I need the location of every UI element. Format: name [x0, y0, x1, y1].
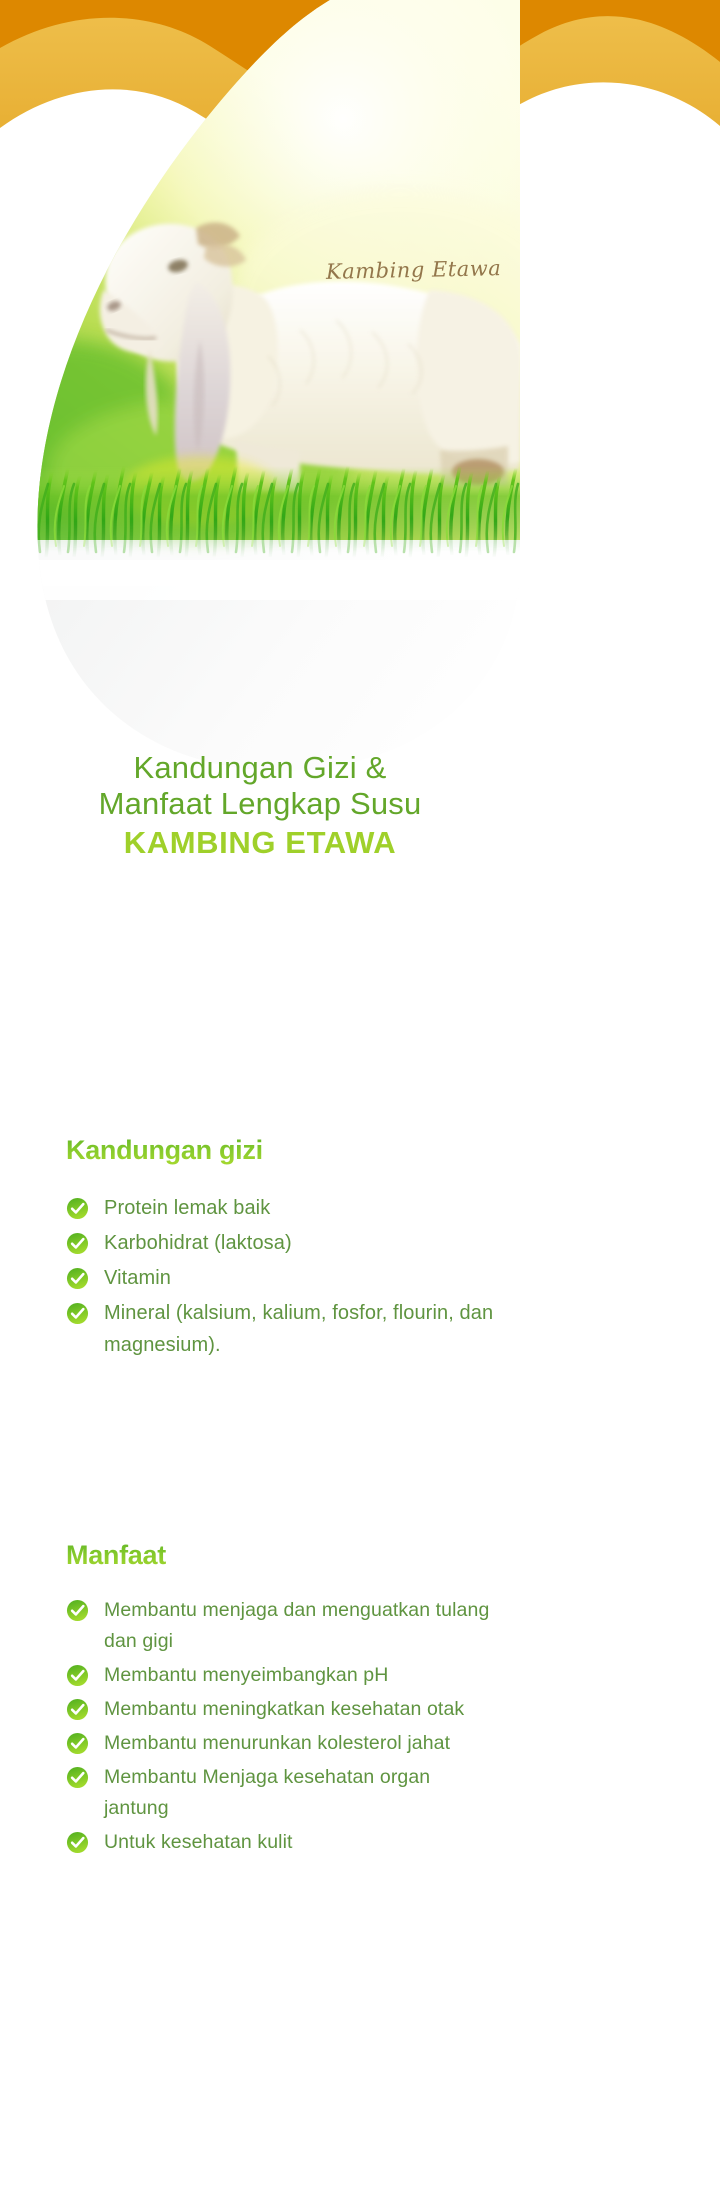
list-item-label: Membantu menurunkan kolesterol jahat: [104, 1728, 450, 1759]
hero-droplet: Kambing Etawa: [0, 0, 520, 790]
list-item: Untuk kesehatan kulit: [66, 1827, 496, 1858]
check-circle-icon: [66, 1232, 89, 1255]
list-item-label: Membantu meningkatkan kesehatan otak: [104, 1694, 464, 1725]
benefits-list: Membantu menjaga dan menguatkan tulang d…: [66, 1595, 496, 1858]
list-item-label: Vitamin: [104, 1262, 171, 1294]
milk-droplet-shape: [0, 0, 520, 790]
check-circle-icon: [66, 1664, 89, 1687]
list-item: Membantu menurunkan kolesterol jahat: [66, 1728, 496, 1759]
check-circle-icon: [66, 1732, 89, 1755]
nutrition-list: Protein lemak baik Karbohidrat (laktosa)…: [66, 1192, 496, 1361]
title-brand: KAMBING ETAWA: [30, 825, 490, 861]
photo-caption: Kambing Etawa: [326, 256, 502, 284]
check-circle-icon: [66, 1599, 89, 1622]
list-item: Karbohidrat (laktosa): [66, 1227, 496, 1259]
page-title: Kandungan Gizi & Manfaat Lengkap Susu KA…: [30, 750, 490, 861]
title-line-2: Manfaat Lengkap Susu: [30, 786, 490, 822]
section-manfaat: Manfaat Membantu menjaga dan menguatkan …: [66, 1540, 496, 1861]
goat-photo: [0, 0, 520, 600]
section-heading-gizi: Kandungan gizi: [66, 1135, 263, 1166]
list-item: Vitamin: [66, 1262, 496, 1294]
list-item: Membantu menyeimbangkan pH: [66, 1660, 496, 1691]
list-item: Membantu Menjaga kesehatan organ jantung: [66, 1762, 496, 1824]
check-circle-icon: [66, 1831, 89, 1854]
droplet-contents: [0, 0, 520, 790]
list-item: Membantu menjaga dan menguatkan tulang d…: [66, 1595, 496, 1657]
check-circle-icon: [66, 1302, 89, 1325]
list-item: Membantu meningkatkan kesehatan otak: [66, 1694, 496, 1725]
list-item-label: Membantu menjaga dan menguatkan tulang d…: [104, 1595, 496, 1657]
title-line-1: Kandungan Gizi &: [30, 750, 490, 786]
list-item: Protein lemak baik: [66, 1192, 496, 1224]
check-circle-icon: [66, 1766, 89, 1789]
list-item-label: Karbohidrat (laktosa): [104, 1227, 292, 1259]
check-circle-icon: [66, 1197, 89, 1220]
list-item: Mineral (kalsium, kalium, fosfor, flouri…: [66, 1297, 496, 1361]
list-item-label: Membantu menyeimbangkan pH: [104, 1660, 388, 1691]
list-item-label: Mineral (kalsium, kalium, fosfor, flouri…: [104, 1297, 496, 1361]
grass-band: [0, 466, 520, 600]
check-circle-icon: [66, 1267, 89, 1290]
section-kandungan-gizi: Kandungan gizi Protein lemak baik Karboh…: [66, 1135, 496, 1364]
list-item-label: Protein lemak baik: [104, 1192, 270, 1224]
section-heading-manfaat: Manfaat: [66, 1540, 166, 1571]
list-item-label: Membantu Menjaga kesehatan organ jantung: [104, 1762, 496, 1824]
list-item-label: Untuk kesehatan kulit: [104, 1827, 293, 1858]
check-circle-icon: [66, 1698, 89, 1721]
